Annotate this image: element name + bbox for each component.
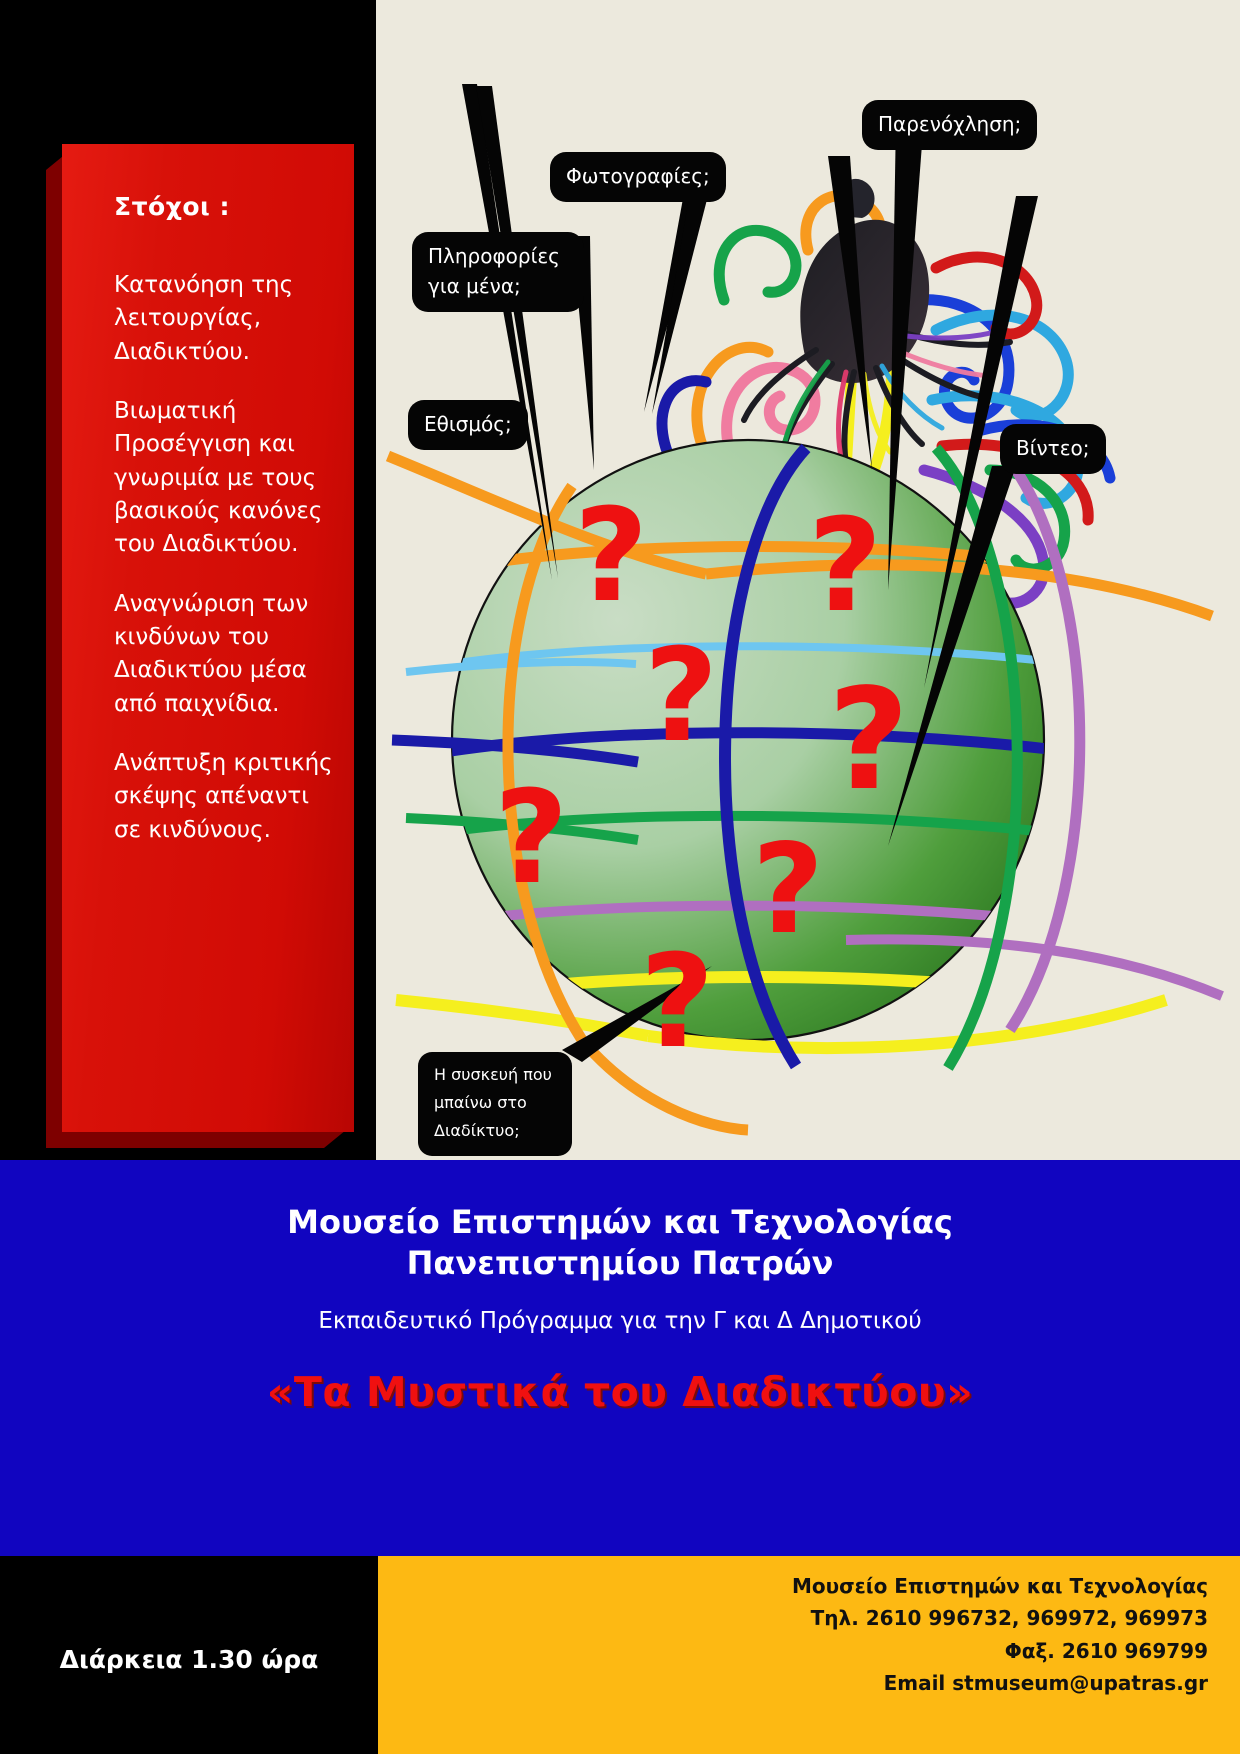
question-mark: ? bbox=[574, 482, 648, 631]
bubble-info-about-me[interactable]: Πληροφορίες για μένα; bbox=[412, 232, 584, 312]
bubble-device[interactable]: Η συσκευή που μπαίνω στο Διαδίκτυο; bbox=[418, 1052, 572, 1156]
bubble-video[interactable]: Βίντεο; bbox=[1000, 424, 1106, 474]
contact-block: Μουσείο Επιστημών και Τεχνολογίας Τηλ. 2… bbox=[508, 1570, 1208, 1700]
objectives-title: Στόχοι : bbox=[114, 192, 336, 221]
objective-item: Αναγνώριση των κινδύνων του Διαδικτύου μ… bbox=[114, 588, 336, 721]
banner-heading-line1: Μουσείο Επιστημών και Τεχνολογίας bbox=[0, 1202, 1240, 1243]
objective-item: Κατανόηση της λειτουργίας, Διαδικτύου. bbox=[114, 269, 336, 369]
contact-line: Email stmuseum@upatras.gr bbox=[508, 1667, 1208, 1699]
duration-label: Διάρκεια 1.30 ώρα bbox=[0, 1645, 378, 1674]
question-mark: ? bbox=[808, 492, 882, 641]
globe-svg: ? ? ? ? ? ? ? bbox=[376, 0, 1240, 1160]
objective-item: Βιωματική Προσέγγιση και γνωριμία με του… bbox=[114, 395, 336, 562]
contact-line: Μουσείο Επιστημών και Τεχνολογίας bbox=[508, 1570, 1208, 1602]
contact-line: Τηλ. 2610 996732, 969972, 969973 bbox=[508, 1602, 1208, 1634]
banner-subtitle: Εκπαιδευτικό Πρόγραμμα για την Γ και Δ Δ… bbox=[0, 1308, 1240, 1334]
question-mark: ? bbox=[828, 659, 909, 822]
contact-line: Φαξ. 2610 969799 bbox=[508, 1635, 1208, 1667]
blue-banner: Μουσείο Επιστημών και Τεχνολογίας Πανεπι… bbox=[0, 1160, 1240, 1556]
bubble-addiction[interactable]: Εθισμός; bbox=[408, 400, 528, 450]
banner-heading-line2: Πανεπιστημίου Πατρών bbox=[0, 1243, 1240, 1284]
globe-illustration: ? ? ? ? ? ? ? bbox=[376, 0, 1240, 1160]
bubble-photos[interactable]: Φωτογραφίες; bbox=[550, 152, 726, 202]
poster-root: Στόχοι : Κατανόηση της λειτουργίας, Διαδ… bbox=[0, 0, 1240, 1754]
question-mark: ? bbox=[494, 764, 568, 913]
objective-item: Ανάπτυξη κριτικής σκέψης απέναντι σε κιν… bbox=[114, 747, 336, 847]
question-mark: ? bbox=[644, 622, 718, 771]
banner-heading: Μουσείο Επιστημών και Τεχνολογίας Πανεπι… bbox=[0, 1202, 1240, 1284]
question-mark: ? bbox=[752, 818, 824, 962]
objectives-box: Στόχοι : Κατανόηση της λειτουργίας, Διαδ… bbox=[62, 144, 354, 1132]
question-mark: ? bbox=[640, 928, 714, 1077]
bubble-harassment[interactable]: Παρενόχληση; bbox=[862, 100, 1037, 150]
program-title: «Τα Μυστικά του Διαδικτύου» bbox=[0, 1368, 1240, 1416]
